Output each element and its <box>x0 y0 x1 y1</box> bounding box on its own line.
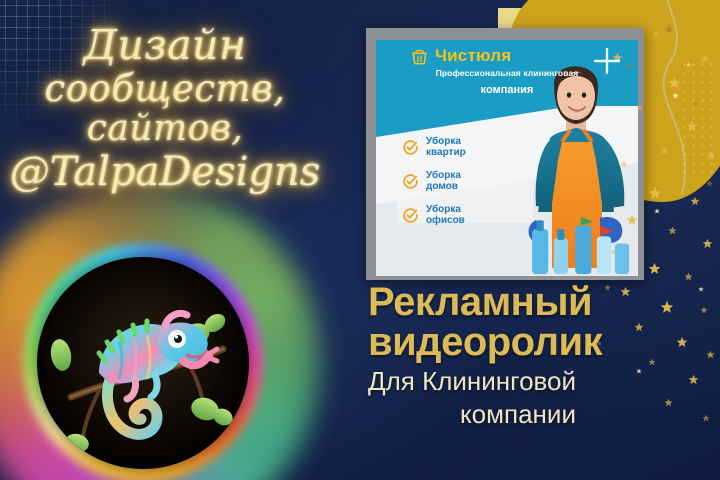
headline-gold-line-2: видеоролик <box>368 322 668 362</box>
left-promo-text: Дизайн сообществ, сайтов, @TalpaDesigns <box>0 22 330 195</box>
check-circle-icon <box>402 207 419 224</box>
promo-banner: Дизайн сообществ, сайтов, @TalpaDesigns <box>0 0 720 480</box>
service-label: Уборка домов <box>426 170 461 192</box>
service-label-line2: домов <box>426 181 461 192</box>
dot-grid-decoration <box>680 60 714 178</box>
promo-line-2: сообществ, <box>0 68 330 109</box>
grid-decoration <box>0 0 120 146</box>
chameleon-icon <box>37 257 249 469</box>
service-item: Уборка домов <box>402 170 466 192</box>
cleaning-bottles <box>523 213 638 276</box>
service-label: Уборка квартир <box>426 136 466 158</box>
chameleon-logo-orb <box>18 238 268 480</box>
promo-line-3: сайтов, <box>0 109 330 149</box>
service-item: Уборка квартир <box>402 136 466 158</box>
service-label: Уборка офисов <box>426 204 465 226</box>
sparkle-icon <box>594 48 620 74</box>
headline-gold-line-1: Рекламный <box>368 282 668 322</box>
service-label-line1: Уборка <box>426 170 461 181</box>
brand-row: Чистюля <box>410 46 511 66</box>
orb-core <box>37 257 249 469</box>
headline-sub-line-1: Для Клининговой <box>368 368 668 395</box>
ad-panel-inner: Чистюля Профессиональная клининговая ком… <box>376 34 638 276</box>
check-circle-icon <box>402 139 419 156</box>
brand-name: Чистюля <box>435 46 511 66</box>
service-label-line2: квартир <box>426 147 466 158</box>
cleaning-bucket-icon <box>410 47 429 66</box>
headline-sub-line-2: компании <box>368 401 668 428</box>
check-circle-icon <box>402 173 419 190</box>
service-label-line1: Уборка <box>426 136 466 147</box>
main-headline: Рекламный видеоролик Для Клининговой ком… <box>368 282 668 428</box>
promo-line-1: Дизайн <box>0 22 330 68</box>
tagline-line-2: компания <box>376 84 638 96</box>
service-item: Уборка офисов <box>402 204 466 226</box>
ad-preview-panel[interactable]: Чистюля Профессиональная клининговая ком… <box>366 28 644 280</box>
service-label-line1: Уборка <box>426 204 465 215</box>
service-label-line2: офисов <box>426 215 465 226</box>
service-list: Уборка квартир Уборка домов <box>402 136 466 238</box>
